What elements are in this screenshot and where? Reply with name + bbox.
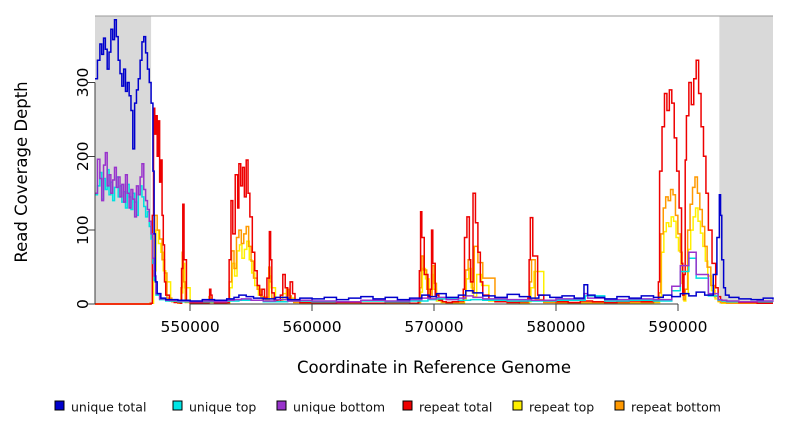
legend-item-repeat-bottom[interactable]: repeat bottom [615, 400, 721, 415]
y-tick-label: 200 [74, 142, 92, 172]
legend-label: repeat top [529, 400, 594, 415]
legend-item-repeat-top[interactable]: repeat top [513, 400, 594, 415]
y-tick-label: 300 [74, 68, 92, 98]
legend-swatch-unique-total [55, 401, 64, 410]
x-tick-label: 580000 [526, 318, 585, 336]
x-tick-label: 570000 [404, 318, 463, 336]
legend-swatch-repeat-bottom [615, 401, 624, 410]
right-flank-shade [719, 16, 773, 304]
series-layer [95, 20, 773, 304]
x-tick-label: 550000 [161, 318, 220, 336]
legend-item-repeat-total[interactable]: repeat total [403, 400, 492, 415]
legend-swatch-unique-top [173, 401, 182, 410]
legend-item-unique-total[interactable]: unique total [55, 400, 146, 415]
shaded-region-layer [95, 16, 773, 304]
legend-label: repeat total [419, 400, 492, 415]
x-tick-label: 560000 [282, 318, 341, 336]
legend-label: unique bottom [293, 400, 385, 415]
legend-label: unique total [71, 400, 146, 415]
legend: unique totalunique topunique bottomrepea… [55, 400, 721, 415]
coverage-plot-svg: 0100200300550000560000570000580000590000… [0, 0, 792, 432]
x-tick-label: 590000 [648, 318, 707, 336]
legend-item-unique-top[interactable]: unique top [173, 400, 256, 415]
legend-item-unique-bottom[interactable]: unique bottom [277, 400, 385, 415]
series-unique-total [95, 20, 773, 301]
legend-swatch-repeat-top [513, 401, 522, 410]
x-axis-title: Coordinate in Reference Genome [297, 358, 571, 377]
y-tick-label: 100 [74, 215, 92, 245]
coverage-plot-figure: 0100200300550000560000570000580000590000… [0, 0, 792, 432]
legend-swatch-unique-bottom [277, 401, 286, 410]
legend-label: repeat bottom [631, 400, 721, 415]
y-tick-label: 0 [74, 299, 92, 309]
legend-label: unique top [189, 400, 256, 415]
y-axis-title: Read Coverage Depth [12, 81, 31, 262]
legend-swatch-repeat-total [403, 401, 412, 410]
